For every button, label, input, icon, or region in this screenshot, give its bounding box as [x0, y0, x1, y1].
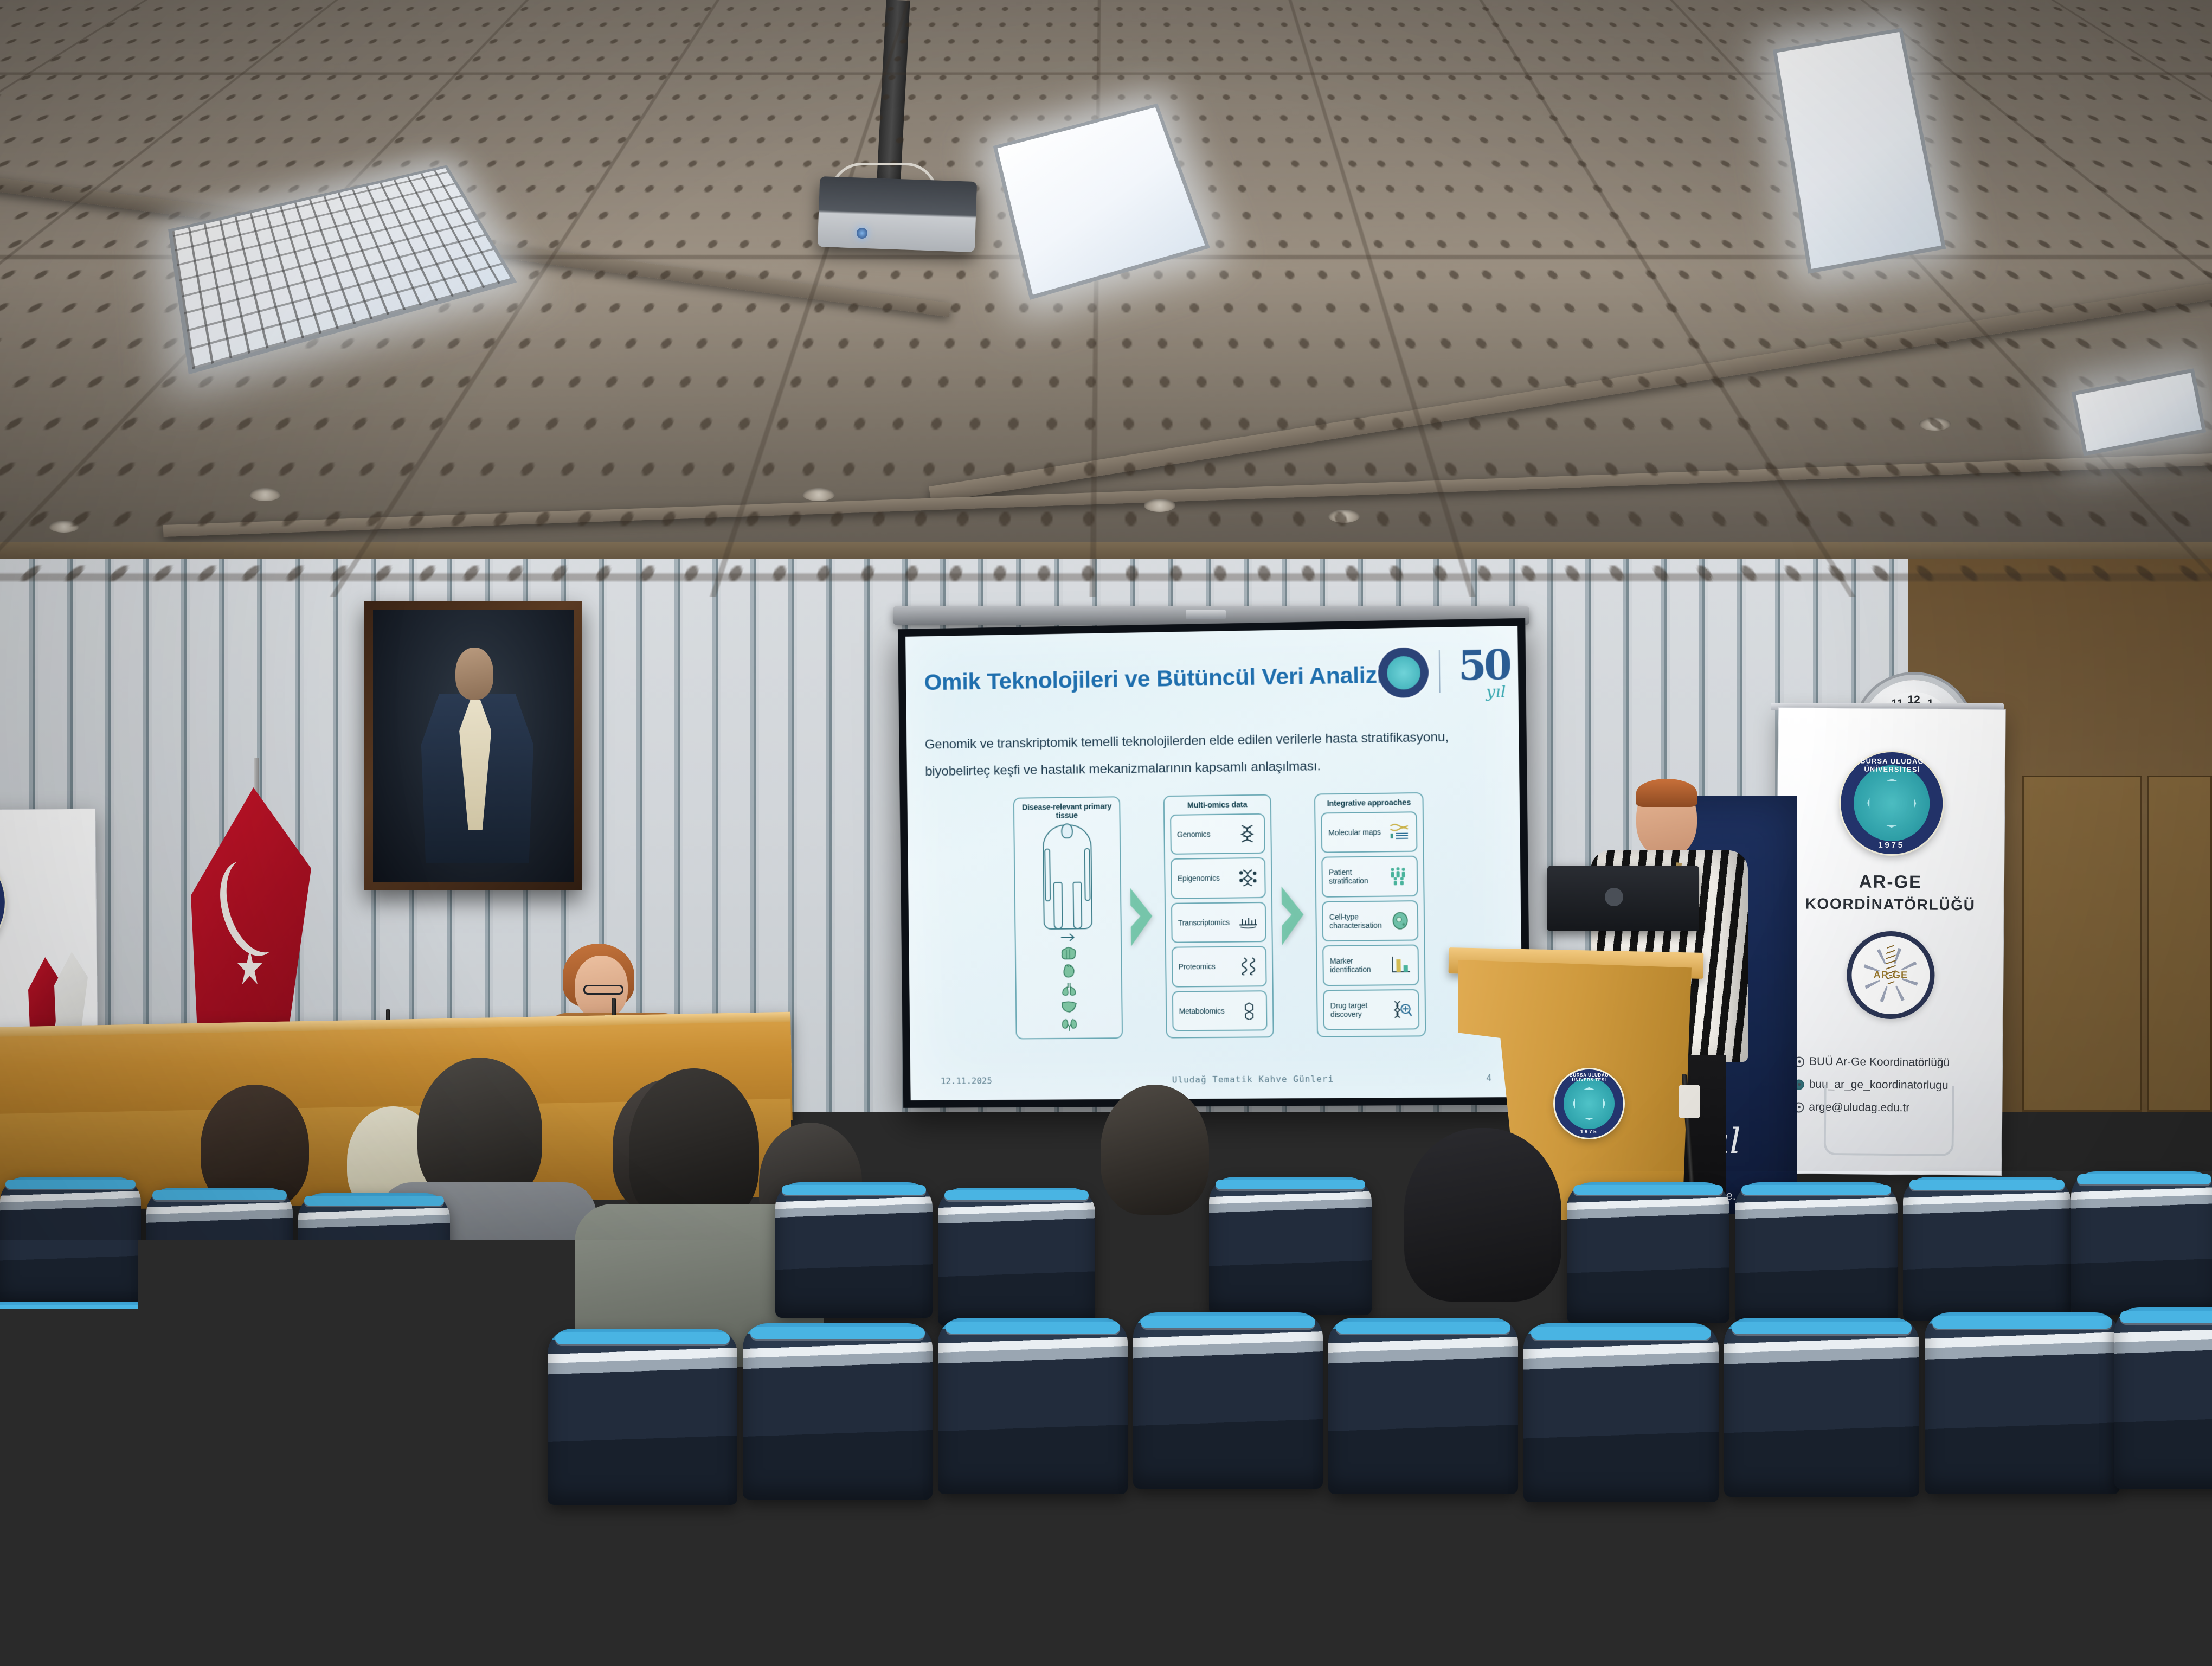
diagram-column-header: Integrative approaches: [1321, 798, 1417, 808]
ceiling-downlight-6: [1919, 418, 1951, 431]
slide-title: Omik Teknolojileri ve Bütüncül Veri Anal…: [924, 662, 1384, 696]
omics-item-transcriptomics: Transcriptomics: [1171, 902, 1266, 943]
omics-label: Proteomics: [1179, 962, 1216, 971]
seal-year-right: 1975: [1840, 841, 1942, 851]
tissue-illustration: [1020, 824, 1116, 1032]
seat-row-a-1[interactable]: [0, 1177, 141, 1307]
moderator-glasses-icon: [583, 985, 623, 995]
seat-row-a-8[interactable]: [1735, 1182, 1898, 1323]
projector-lens: [857, 228, 867, 239]
omics-item-epigenomics: Epigenomics: [1171, 857, 1266, 899]
portrait-head: [455, 648, 493, 699]
dna-magnifier-icon: [1390, 1000, 1412, 1018]
seat-row-b-5[interactable]: [743, 1323, 933, 1500]
integrative-label: Drug target discovery: [1330, 1001, 1387, 1018]
seat-row-a-6[interactable]: [1209, 1177, 1372, 1315]
ceiling-downlight-5: [1328, 510, 1360, 523]
liver-icon: [1060, 999, 1078, 1014]
diagram-column-header: Multi-omics data: [1169, 800, 1265, 810]
speaker-hair: [1636, 779, 1697, 807]
right-door-panel: [2022, 776, 2142, 1112]
omics-label: Epigenomics: [1178, 874, 1220, 883]
slide-diagram: Disease-relevant primary tissue: [1013, 792, 1426, 1040]
presentation-slide: Omik Teknolojileri ve Bütüncül Veri Anal…: [905, 626, 1523, 1100]
seat-row-b-1[interactable]: [0, 1302, 157, 1470]
flag-crescent: [210, 855, 290, 963]
seat-row-b-8[interactable]: [1328, 1318, 1518, 1494]
rna-strand-icon: [1237, 913, 1259, 931]
seat-row-a-10[interactable]: [2071, 1171, 2212, 1315]
body-arm-right: [1084, 848, 1091, 901]
podium-seal-year: 1975: [1555, 1129, 1623, 1135]
integrative-label: Marker identification: [1330, 956, 1387, 974]
integrative-item-molecular-maps: Molecular maps: [1321, 811, 1418, 853]
seat-row-c-1[interactable]: [0, 1481, 195, 1666]
integrative-item-marker-identification: Marker identification: [1322, 945, 1419, 986]
podium-buu-seal: BURSA ULUDAĞ ÜNİVERSİTESİ 1975: [1555, 1069, 1623, 1138]
integrative-label: Patient stratification: [1329, 868, 1386, 886]
body-head: [1061, 823, 1073, 839]
diagram-column-integrative: Integrative approaches Molecular maps: [1314, 792, 1426, 1037]
seat-row-b-12[interactable]: [2114, 1307, 2212, 1489]
right-rollup-banner: BURSA ULUDAĞ ÜNİVERSİTESİ 1975 AR-GE KOO…: [1774, 707, 2005, 1176]
bar-chart-icon: [1390, 956, 1412, 975]
seat-armrest-1: [445, 1605, 477, 1666]
portrait-canvas: [373, 610, 574, 882]
seal-year-left: 1975: [0, 943, 5, 953]
omics-item-genomics: Genomics: [1170, 813, 1265, 855]
seat-row-c-9[interactable]: [1914, 1497, 2158, 1666]
integrative-item-patient-stratification: Patient stratification: [1322, 856, 1418, 898]
omics-label: Metabolomics: [1179, 1007, 1225, 1016]
seat-row-c-5[interactable]: [927, 1513, 1166, 1666]
heart-icon: [1059, 963, 1078, 978]
projector: [818, 176, 977, 252]
seal-top-text-left: ULUDAĞ ÜNİVERSİTESİ: [0, 853, 4, 862]
banner-bottom-chevron: [1824, 1085, 1954, 1156]
omics-label: Genomics: [1177, 830, 1211, 839]
seat-row-c-7[interactable]: [1415, 1508, 1659, 1666]
seat-row-b-9[interactable]: [1523, 1323, 1719, 1502]
audience-head-6: [629, 1068, 759, 1226]
kidneys-icon: [1060, 1017, 1078, 1032]
audience-head-7: [1101, 1085, 1209, 1215]
omics-items: Genomics Epigenomics: [1170, 813, 1268, 1031]
seat-row-a-5[interactable]: [938, 1188, 1095, 1326]
slide-footer-page: 4: [1436, 1073, 1491, 1084]
buu-seal-left: ULUDAĞ ÜNİVERSİTESİ 1975: [0, 848, 5, 957]
seat-row-c-8[interactable]: [1664, 1502, 1908, 1666]
banner-title-line2: KOORDİNATÖRLÜĞÜ: [1777, 894, 2003, 914]
lungs-icon: [1059, 981, 1078, 996]
banner-title-line1: AR-GE: [1777, 870, 2004, 894]
seat-row-c-10[interactable]: [2142, 1491, 2212, 1666]
body-arm-left: [1044, 848, 1051, 902]
chevron-arrow-2: [1281, 883, 1307, 949]
seat-row-b-3[interactable]: [352, 1323, 542, 1497]
omics-item-proteomics: Proteomics: [1171, 946, 1266, 987]
seat-row-a-7[interactable]: [1567, 1182, 1729, 1323]
ceiling-downlight-1: [49, 521, 79, 533]
diagram-column-tissue: Disease-relevant primary tissue: [1013, 796, 1123, 1040]
organ-icon-stack: [1059, 945, 1078, 1032]
buu-seal-right: BURSA ULUDAĞ ÜNİVERSİTESİ 1975: [1840, 752, 1943, 855]
integrative-item-cell-type: Cell-type characterisation: [1322, 900, 1419, 942]
diagram-column-omics: Multi-omics data Genomics Epigenomics: [1163, 794, 1274, 1038]
integrative-item-drug-target: Drug target discovery: [1323, 989, 1419, 1030]
presenter-laptop: [1547, 866, 1699, 931]
seat-armrest-2: [689, 1611, 721, 1666]
seat-row-a-3[interactable]: [298, 1193, 450, 1329]
seat-row-a-9[interactable]: [1903, 1177, 2071, 1321]
ceiling-downlight-3: [802, 488, 835, 501]
slide-footer-event: Uludağ Tematik Kahve Günleri: [1071, 1073, 1436, 1086]
slide-logo-divider: [1438, 650, 1440, 693]
seat-row-b-4[interactable]: [548, 1329, 737, 1505]
slide-subtitle: Genomik ve transkriptomik temelli teknol…: [924, 723, 1494, 785]
body-leg-right: [1073, 882, 1082, 929]
contact-facebook: BUÜ Ar-Ge Koordinatörlüğü: [1794, 1055, 1950, 1069]
seat-row-b-6[interactable]: [938, 1318, 1128, 1494]
network-chart-icon: [1388, 822, 1410, 841]
seat-row-b-2[interactable]: [163, 1312, 347, 1486]
brain-icon: [1059, 945, 1077, 960]
dna-helix-icon: [1236, 824, 1258, 843]
contact-facebook-text: BUÜ Ar-Ge Koordinatörlüğü: [1809, 1055, 1950, 1069]
seat-row-a-4[interactable]: [775, 1182, 933, 1318]
right-door-panel-2: [2147, 776, 2212, 1112]
seat-row-c-2[interactable]: [201, 1497, 434, 1666]
seat-row-c-6[interactable]: [1171, 1508, 1410, 1666]
methylation-icon: [1237, 868, 1258, 887]
molecule-icon: [1238, 1001, 1260, 1020]
human-body-silhouette-icon: [1043, 824, 1093, 929]
ataturk-portrait: [364, 601, 582, 890]
cell-icon: [1389, 911, 1411, 930]
body-leg-left: [1053, 882, 1063, 929]
seal-top-text-right: BURSA ULUDAĞ ÜNİVERSİTESİ: [1841, 757, 1943, 774]
seat-armrest-3: [1404, 1600, 1437, 1666]
ceiling-downlight-2: [249, 488, 281, 501]
podium-seal-top-text: BURSA ULUDAĞ ÜNİVERSİTESİ: [1555, 1073, 1623, 1082]
arge-wordmark: AR-GE: [1874, 969, 1908, 981]
slide-footer-date: 12.11.2025: [941, 1075, 1072, 1086]
slide-university-seal-icon: [1378, 647, 1429, 698]
people-group-icon: [1388, 867, 1411, 886]
arrow-right-icon: [1060, 932, 1076, 942]
audience-head-8: [1404, 1128, 1561, 1302]
diagram-column-header: Disease-relevant primary tissue: [1019, 802, 1114, 821]
integrative-label: Cell-type characterisation: [1329, 912, 1386, 930]
auditorium-photo: ULUDAĞ ÜNİVERSİTESİ 1975 12 1 2 3 4 5 6 …: [0, 0, 2212, 1666]
omics-item-metabolomics: Metabolomics: [1172, 990, 1267, 1031]
seat-row-b-11[interactable]: [1925, 1312, 2120, 1494]
protein-coil-icon: [1238, 957, 1259, 975]
projection-screen: Omik Teknolojileri ve Bütüncül Veri Anal…: [898, 618, 1531, 1108]
podium-mic-clip: [1679, 1085, 1700, 1118]
slide-anniversary-word: yıl: [1486, 683, 1506, 702]
seat-row-b-7[interactable]: [1133, 1312, 1323, 1489]
integrative-label: Molecular maps: [1328, 828, 1381, 837]
chevron-arrow-1: [1130, 885, 1156, 950]
integrative-items: Molecular maps Patient stratification: [1321, 811, 1419, 1030]
arge-logo: AR-GE: [1847, 931, 1935, 1019]
seat-row-b-10[interactable]: [1724, 1318, 1919, 1497]
slide-footer: 12.11.2025 Uludağ Tematik Kahve Günleri …: [910, 1073, 1523, 1087]
omics-label: Transcriptomics: [1178, 918, 1230, 927]
seat-row-a-2[interactable]: [146, 1188, 293, 1323]
ceiling-downlight-4: [1144, 499, 1175, 512]
